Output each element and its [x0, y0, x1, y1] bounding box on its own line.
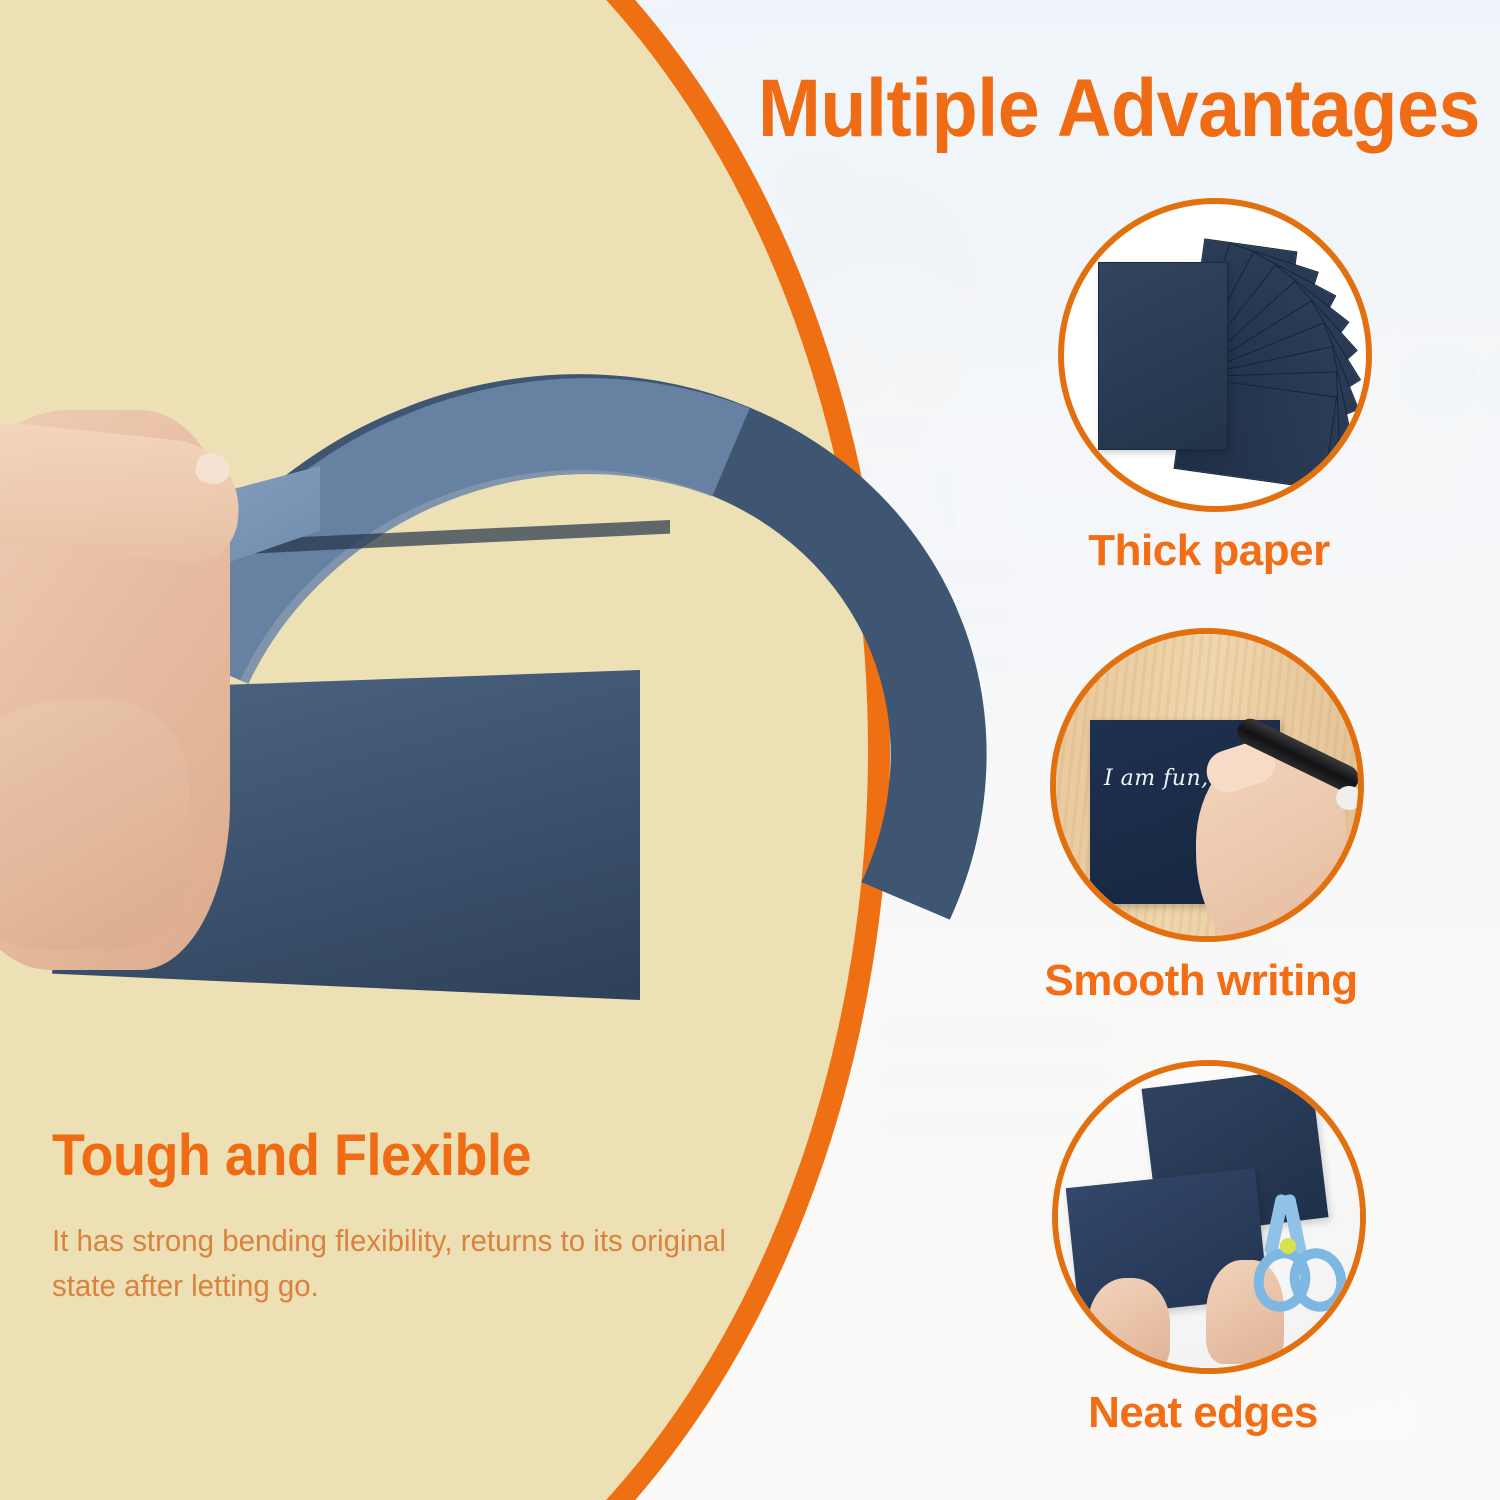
left-body-text: It has strong bending flexibility, retur… [52, 1219, 755, 1309]
feature-image-smooth-writing: I am fun, and [1050, 628, 1364, 942]
left-heading: Tough and Flexible [52, 1122, 740, 1189]
feature-label-smooth-writing: Smooth writing [1041, 956, 1361, 1006]
pen-cap [1336, 786, 1362, 810]
feature-thick-paper[interactable]: Thick paper [1058, 198, 1372, 576]
feature-image-thick-paper [1058, 198, 1372, 512]
feature-label-thick-paper: Thick paper [1058, 526, 1360, 576]
scissors-pivot [1280, 1238, 1296, 1254]
left-text-block: Tough and Flexible It has strong bending… [52, 1122, 792, 1309]
hero-photo-bending-paper [0, 370, 830, 1010]
feature-image-neat-edges [1052, 1060, 1366, 1374]
page-title: Multiple Advantages [670, 62, 1480, 156]
feature-label-neat-edges: Neat edges [1043, 1388, 1363, 1438]
infographic-canvas: Multiple Advantages Tough and Flexible I… [0, 0, 1500, 1500]
feature-neat-edges[interactable]: Neat edges [1052, 1060, 1366, 1438]
feature-smooth-writing[interactable]: I am fun, and Smooth writing [1050, 628, 1364, 1006]
front-sheet [1098, 262, 1228, 450]
left-hand [1088, 1278, 1170, 1370]
